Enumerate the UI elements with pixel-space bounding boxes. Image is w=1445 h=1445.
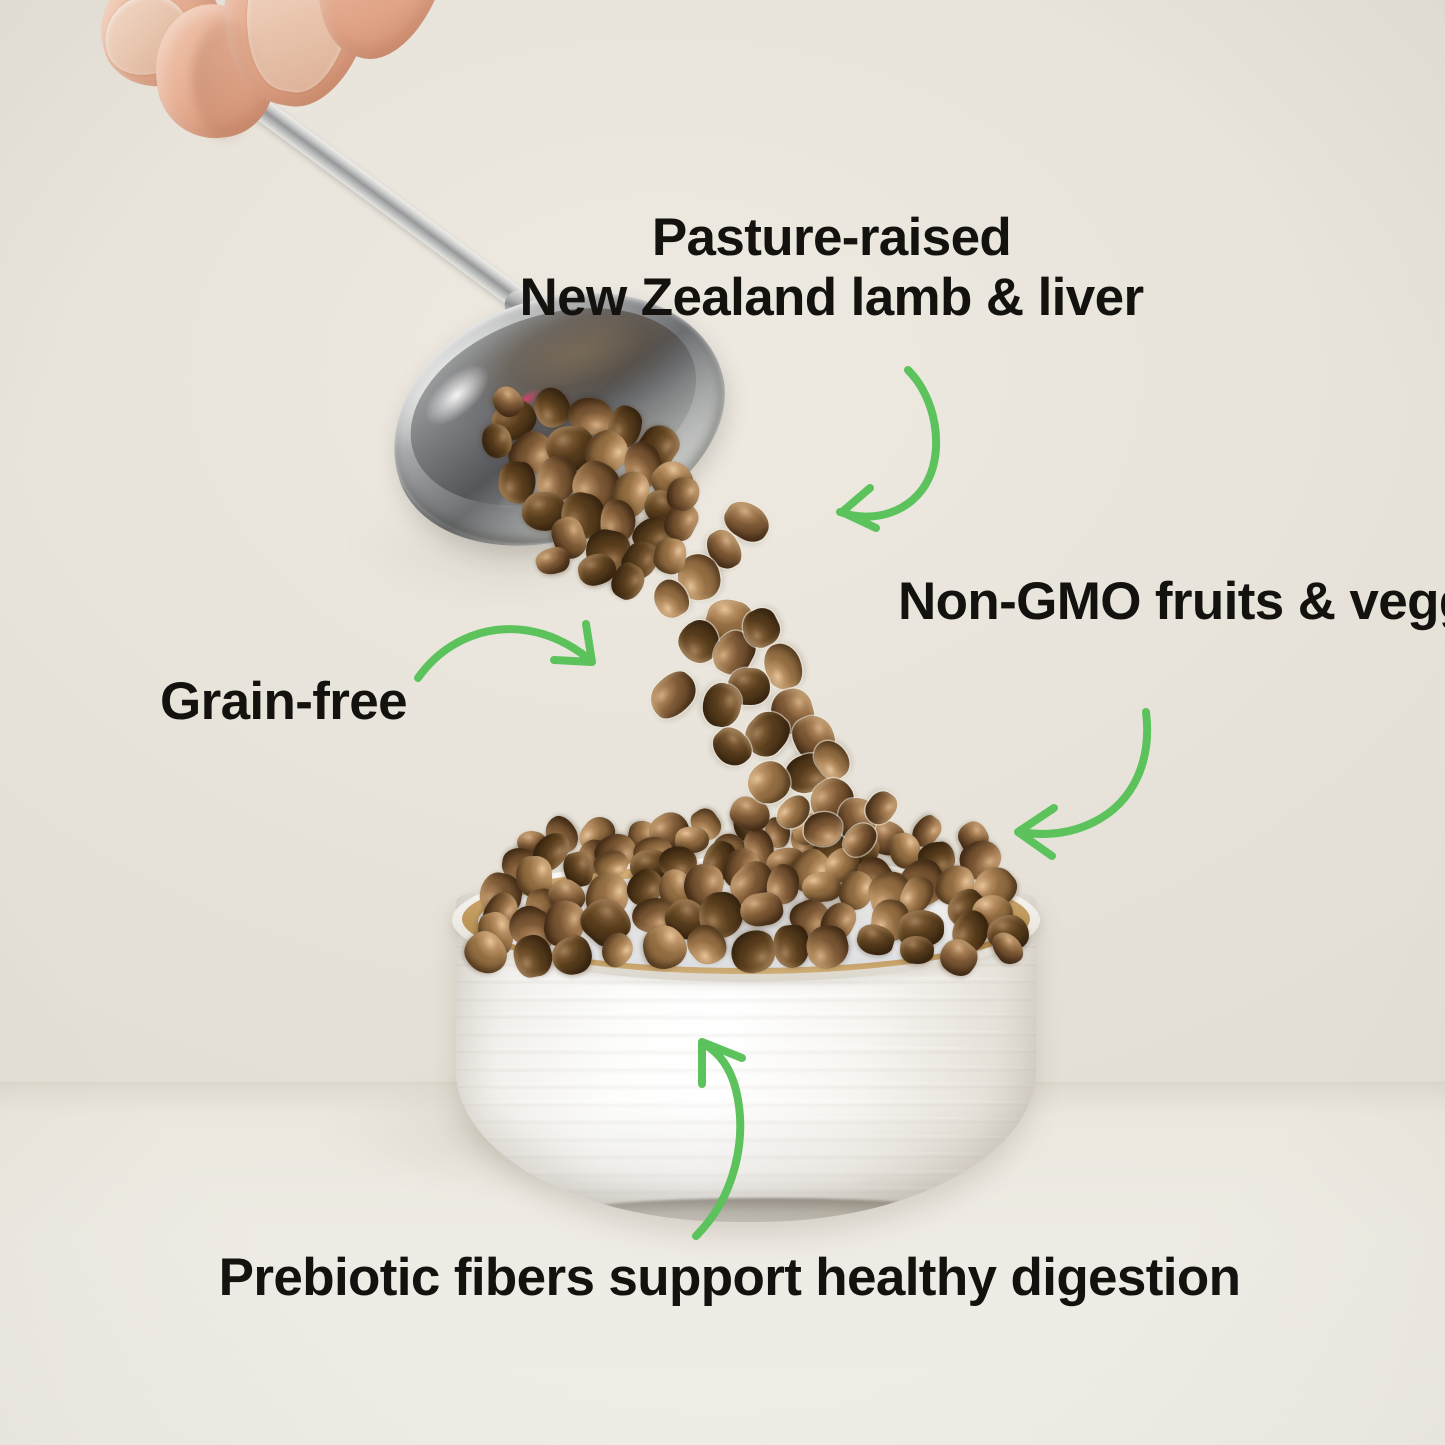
kibble-piece	[642, 664, 703, 727]
product-feature-image: Pasture-raised New Zealand lamb & liver …	[0, 0, 1445, 1445]
kibble-in-bowl	[492, 820, 1002, 972]
curved-arrow-right-icon	[404, 598, 634, 708]
callout-grain-free: Grain-free	[160, 672, 407, 732]
callout-pasture-raised: Pasture-raised New Zealand lamb & liver	[0, 208, 1445, 329]
callout-line-2: fruits & veggies	[1155, 572, 1445, 631]
curved-arrow-up-icon	[648, 1022, 798, 1252]
curved-arrow-down-left-icon	[998, 698, 1198, 878]
kibble-piece	[899, 935, 934, 965]
curved-arrow-down-left-icon	[778, 352, 968, 542]
callout-line-1: Pasture-raised	[652, 208, 1011, 267]
callout-line-2: New Zealand lamb & liver	[218, 268, 1445, 328]
callout-prebiotic-fibers: Prebiotic fibers support healthy digesti…	[0, 1248, 1445, 1308]
callout-line-1: Non-GMO	[898, 572, 1141, 631]
callout-non-gmo: Non-GMO fruits & veggies	[898, 572, 1368, 632]
